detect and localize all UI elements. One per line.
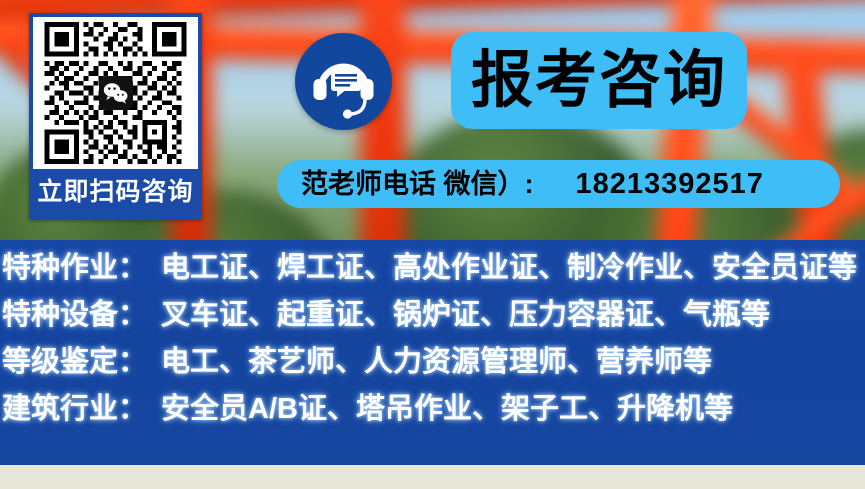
contact-label: 范老师电话 微信）:: [301, 171, 534, 198]
qr-caption: 立即扫码咨询: [33, 169, 198, 216]
qr-code-image: [33, 17, 198, 169]
qr-code-card[interactable]: 立即扫码咨询: [29, 13, 202, 220]
service-items: 安全员A/B证、塔吊作业、架子工、升降机等: [161, 395, 733, 424]
wechat-icon: [99, 76, 133, 110]
service-category-label: 特种设备：: [2, 301, 147, 330]
headset-glyph: [295, 33, 392, 130]
title-pill: 报考咨询: [451, 32, 747, 129]
service-items: 电工证、焊工证、高处作业证、制冷作业、安全员证等: [161, 254, 857, 283]
page-title: 报考咨询: [471, 50, 727, 112]
service-row: 等级鉴定： 电工、茶艺师、人力资源管理师、营养师等: [0, 348, 865, 395]
poster-root: 立即扫码咨询 报考咨询 范老师电话 微信）: 18213392517: [0, 0, 865, 489]
headset-support-icon: [295, 33, 392, 130]
service-category-label: 等级鉴定：: [2, 348, 147, 377]
service-category-label: 建筑行业：: [2, 395, 147, 424]
service-items: 电工、茶艺师、人力资源管理师、营养师等: [161, 348, 712, 377]
service-row: 建筑行业： 安全员A/B证、塔吊作业、架子工、升降机等: [0, 395, 865, 442]
service-items: 叉车证、起重证、锅炉证、压力容器证、气瓶等: [161, 301, 770, 330]
service-row: 特种设备： 叉车证、起重证、锅炉证、压力容器证、气瓶等: [0, 301, 865, 348]
service-row: 特种作业： 电工证、焊工证、高处作业证、制冷作业、安全员证等: [0, 254, 865, 301]
services-panel: 特种作业： 电工证、焊工证、高处作业证、制冷作业、安全员证等 特种设备： 叉车证…: [0, 240, 865, 465]
wechat-glyph: [103, 82, 129, 104]
contact-pill[interactable]: 范老师电话 微信）: 18213392517: [277, 160, 840, 208]
service-category-label: 特种作业：: [2, 254, 147, 283]
contact-phone-number[interactable]: 18213392517: [576, 170, 764, 199]
